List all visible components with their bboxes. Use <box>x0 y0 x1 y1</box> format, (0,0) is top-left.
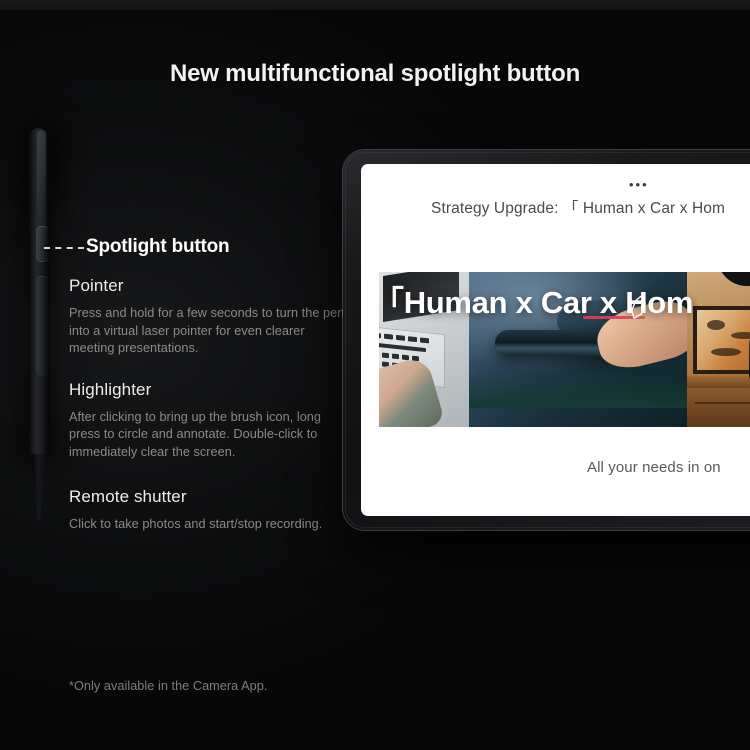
tablet-device: ••• Strategy Upgrade: 「 Human x Car x Ho… <box>343 150 750 530</box>
pen-body <box>28 128 50 458</box>
spotlight-button-icon[interactable] <box>36 226 49 262</box>
feature-body: Press and hold for a few seconds to turn… <box>69 305 345 358</box>
page-title: New multifunctional spotlight button <box>0 60 750 88</box>
cabinet <box>687 388 750 427</box>
pen-grip <box>36 276 49 376</box>
feature-remote-shutter: Remote shutter Click to take photos and … <box>69 487 345 534</box>
feature-body: Click to take photos and start/stop reco… <box>69 516 345 534</box>
more-options-icon[interactable]: ••• <box>629 182 649 188</box>
pen-tip-icon <box>31 454 47 520</box>
feature-title: Pointer <box>69 276 345 296</box>
top-band <box>0 0 750 10</box>
feature-title: Highlighter <box>69 380 345 400</box>
feature-body: After clicking to bring up the brush ico… <box>69 409 345 462</box>
feature-highlighter: Highlighter After clicking to bring up t… <box>69 380 345 462</box>
stylus-pen <box>22 128 56 518</box>
feature-list: Pointer Press and hold for a few seconds… <box>69 276 345 556</box>
slide-headline: 「Human x Car x Hom <box>373 277 750 322</box>
feature-title: Remote shutter <box>69 487 345 507</box>
callout-label: Spotlight button <box>86 236 229 258</box>
tablet-screen[interactable]: ••• Strategy Upgrade: 「 Human x Car x Ho… <box>361 164 750 516</box>
shelf <box>687 376 750 388</box>
feature-pointer: Pointer Press and hold for a few seconds… <box>69 276 345 358</box>
footnote: *Only available in the Camera App. <box>69 679 267 693</box>
car-shadow <box>469 372 687 408</box>
promo-page: New multifunctional spotlight button Spo… <box>0 0 750 750</box>
leader-line <box>44 247 84 249</box>
slide-header: Strategy Upgrade: 「 Human x Car x Hom <box>361 196 750 218</box>
slide-footer: All your needs in on <box>361 459 750 476</box>
